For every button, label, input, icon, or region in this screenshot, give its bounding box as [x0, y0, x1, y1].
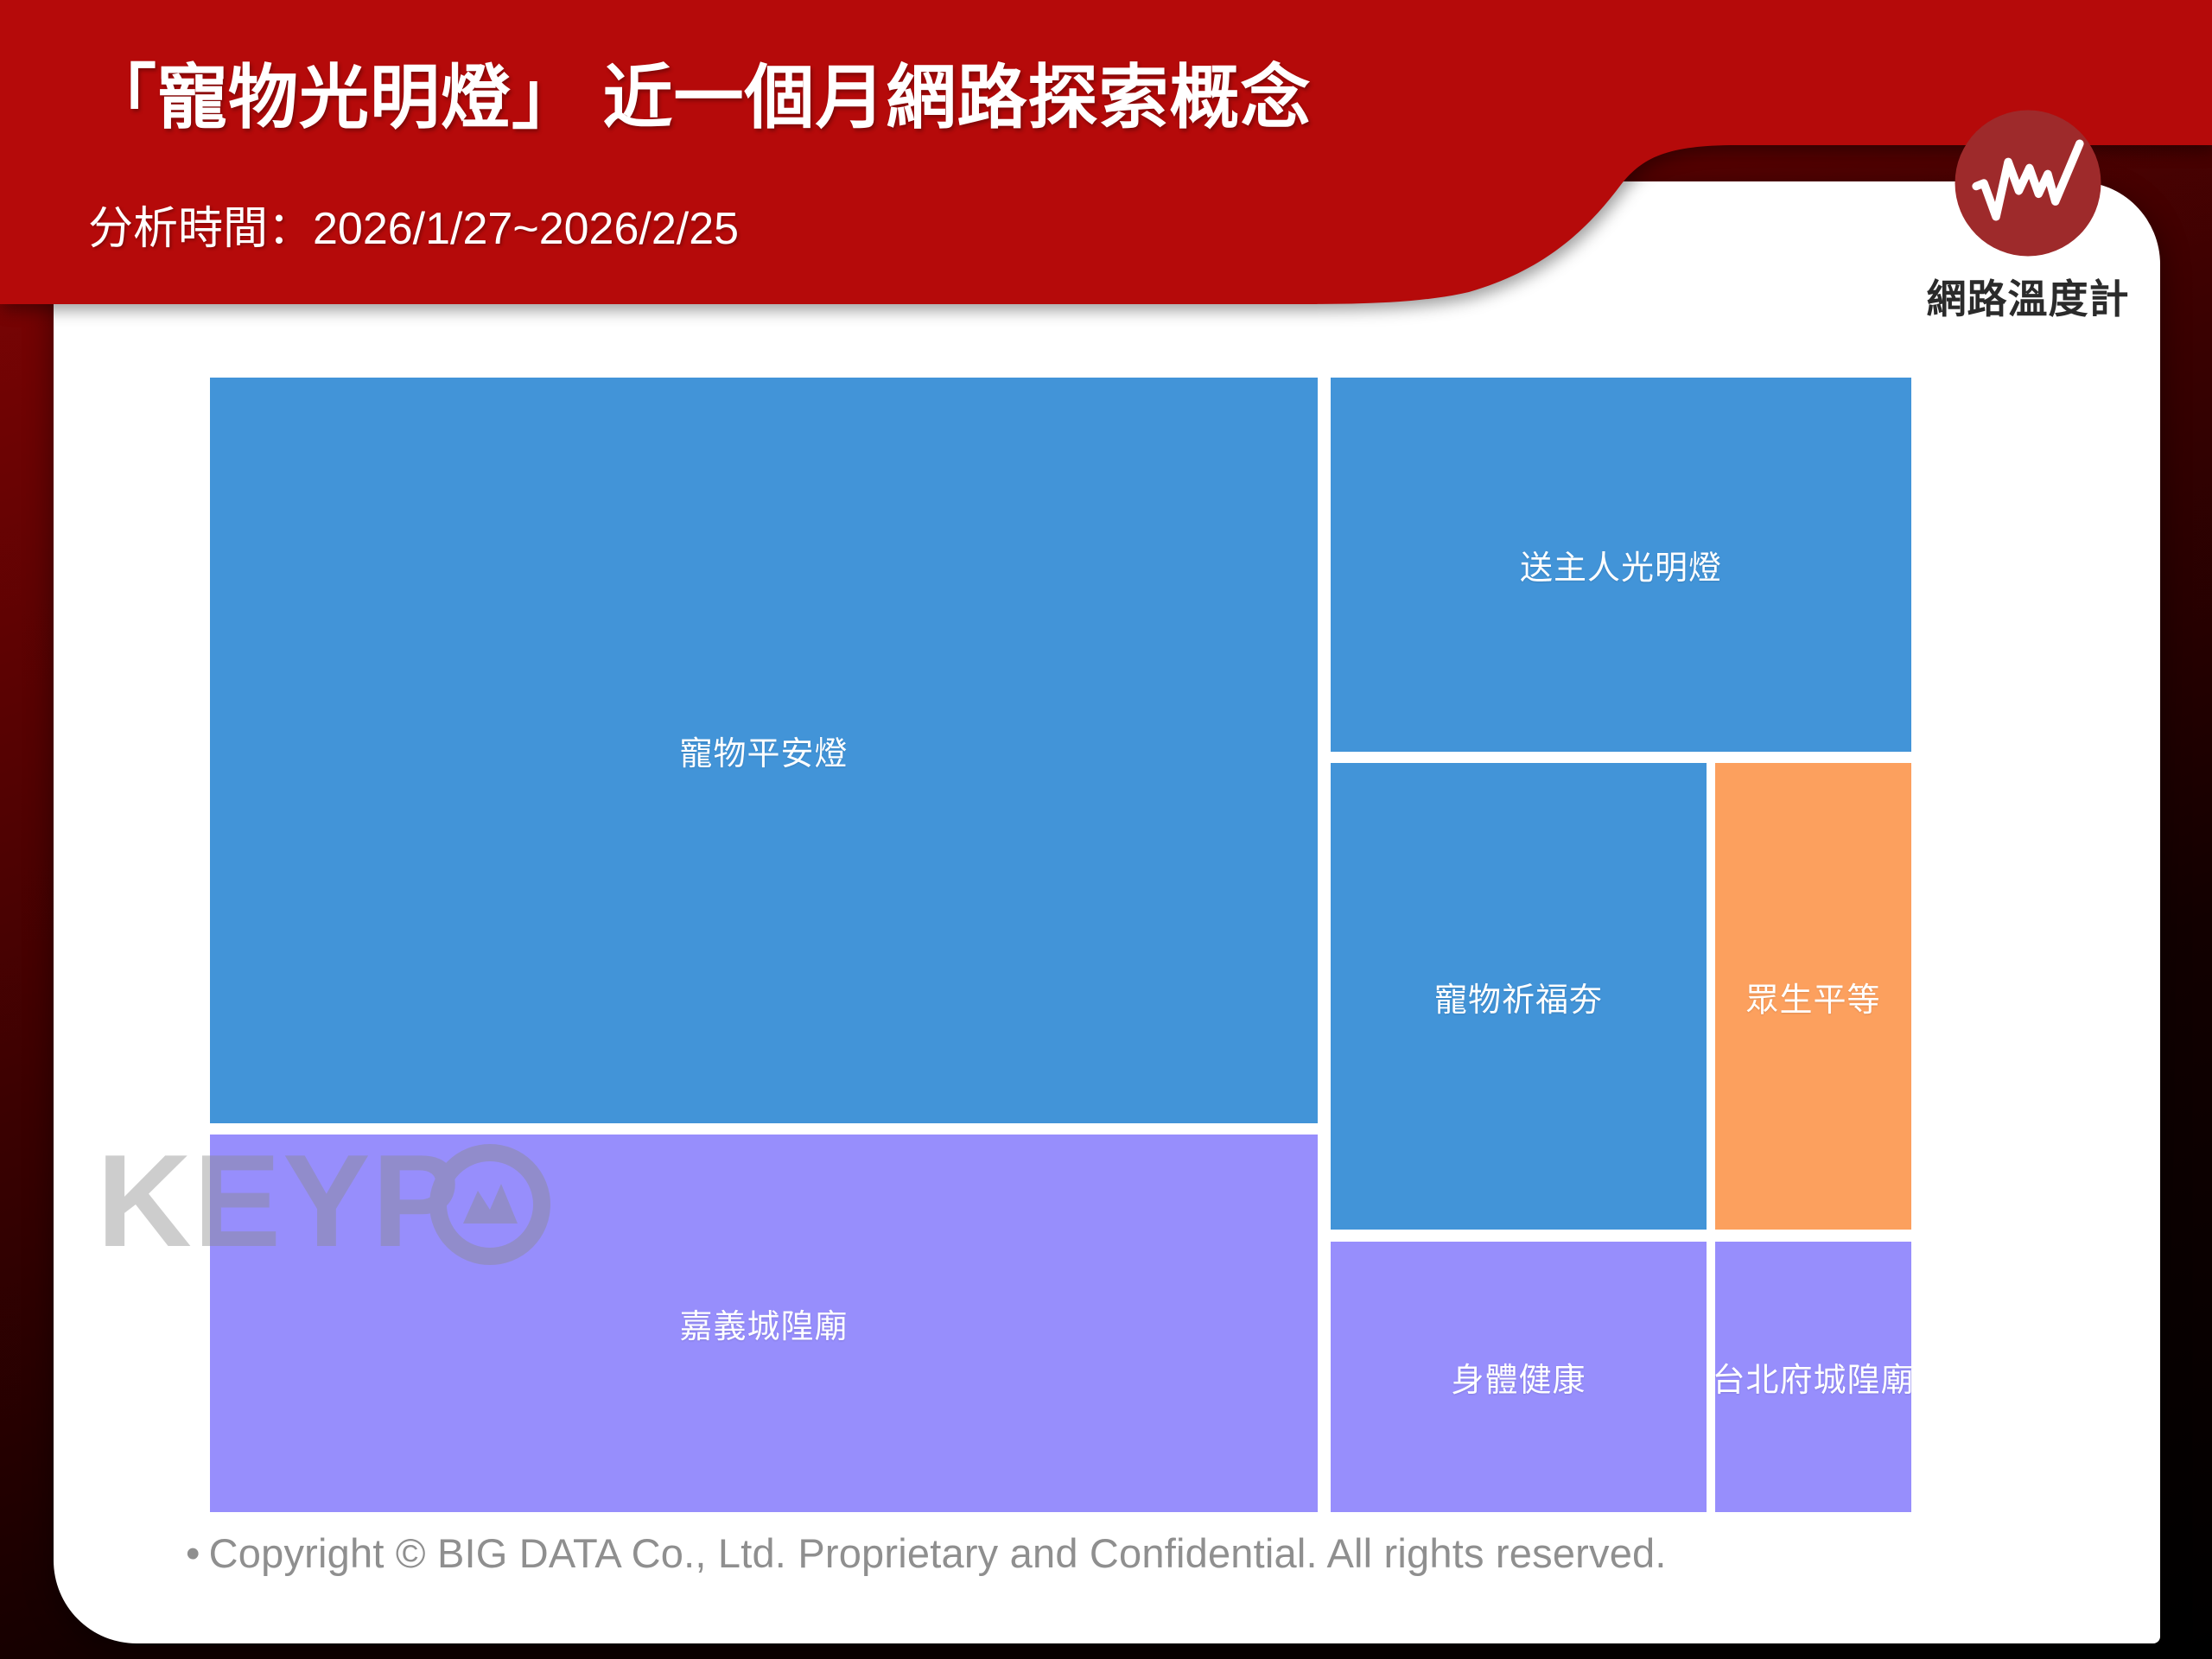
treemap-tile[interactable]: 寵物祈福夯 [1331, 763, 1707, 1230]
treemap-tile[interactable]: 嘉義城隍廟 [210, 1135, 1318, 1512]
page-title: 「寵物光明燈」 近一個月網路探索概念 [86, 41, 1312, 143]
treemap-tile-label: 寵物平安燈 [679, 727, 848, 774]
treemap-chart: 寵物平安燈送主人光明燈寵物祈福夯眾生平等嘉義城隍廟身體健康台北府城隍廟 [210, 378, 1911, 1512]
brand-logo: 網路溫度計 [1920, 107, 2136, 325]
treemap-tile-label: 寵物祈福夯 [1434, 973, 1603, 1020]
treemap-tile[interactable]: 寵物平安燈 [210, 378, 1318, 1123]
footer-bullet: • [186, 1530, 200, 1576]
copyright-text: Copyright © BIG DATA Co., Ltd. Proprieta… [209, 1530, 1667, 1576]
treemap-tile[interactable]: 台北府城隍廟 [1715, 1242, 1911, 1512]
analysis-period: 分析時間：2026/1/27~2026/2/25 [88, 192, 739, 257]
treemap-tile-label: 嘉義城隍廟 [679, 1300, 848, 1347]
treemap-tile[interactable]: 送主人光明燈 [1331, 378, 1911, 752]
slide-root: 「寵物光明燈」 近一個月網路探索概念 分析時間：2026/1/27~2026/2… [0, 0, 2212, 1659]
treemap-tile-label: 身體健康 [1451, 1353, 1586, 1401]
treemap-tile-label: 送主人光明燈 [1520, 541, 1722, 588]
header-banner: 「寵物光明燈」 近一個月網路探索概念 分析時間：2026/1/27~2026/2… [0, 0, 2212, 304]
treemap-tile-label: 眾生平等 [1745, 973, 1880, 1020]
treemap-tile[interactable]: 身體健康 [1331, 1242, 1707, 1512]
trend-line-circle-icon [1952, 107, 2104, 259]
treemap-tile-label: 台北府城隍廟 [1713, 1353, 1915, 1401]
footer-copyright: •Copyright © BIG DATA Co., Ltd. Propriet… [186, 1529, 1667, 1577]
brand-name: 網路溫度計 [1920, 268, 2136, 325]
treemap-tile[interactable]: 眾生平等 [1715, 763, 1911, 1230]
